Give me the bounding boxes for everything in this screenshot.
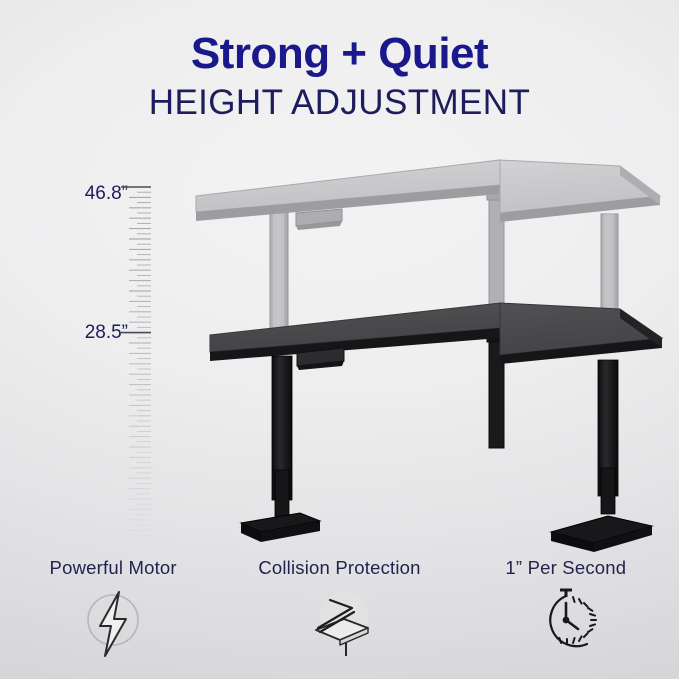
feature-label-collision-protection: Collision Protection	[226, 558, 452, 578]
raised-desk-leg-rear	[487, 186, 506, 316]
lowered-desk-leg-rear	[487, 328, 506, 448]
raised-desk-group	[196, 160, 660, 342]
feature-powerful-motor: Powerful Motor	[0, 558, 226, 662]
feature-speed: 1” Per Second	[453, 558, 679, 662]
lowered-desk-foot-right	[551, 516, 652, 543]
lowered-desk-leg-left	[241, 356, 320, 542]
lowered-desk-top-main	[210, 303, 500, 352]
lowered-desk-leg-right	[551, 360, 652, 552]
raised-desk-top-main	[196, 160, 500, 212]
raised-desk-leg-left	[270, 212, 288, 330]
lowered-desk-edge-return	[500, 338, 662, 364]
desk-bounce-icon	[296, 586, 382, 662]
lowered-desk-group	[210, 303, 662, 552]
feature-label-speed: 1” Per Second	[453, 558, 679, 578]
raised-desk-edge-return	[500, 196, 660, 222]
max-height-label: 46.8”	[42, 183, 128, 205]
feature-collision-protection: Collision Protection	[226, 558, 452, 662]
raised-desk-control-keypad	[296, 209, 342, 230]
lowered-desk-edge-main	[210, 328, 500, 361]
lightning-bolt-icon	[70, 586, 156, 662]
lowered-desk-control-keypad	[297, 348, 344, 370]
lowered-desk-top-return	[500, 303, 662, 355]
feature-label-powerful-motor: Powerful Motor	[0, 558, 226, 578]
min-height-label: 28.5”	[42, 322, 128, 344]
ruler-tick-marks	[119, 186, 151, 536]
infographic-canvas: Strong + Quiet HEIGHT ADJUSTMENT	[0, 0, 679, 679]
raised-desk-edge-main	[196, 185, 500, 221]
features-row: Powerful Motor Collision Protection	[0, 558, 679, 679]
height-range-ruler: 46.8” 28.5”	[0, 0, 180, 560]
raised-desk-top-return	[500, 160, 660, 213]
raised-desk-leg-right	[601, 214, 618, 342]
clock-speed-icon	[523, 586, 609, 662]
lowered-desk-foot-left	[241, 513, 320, 532]
